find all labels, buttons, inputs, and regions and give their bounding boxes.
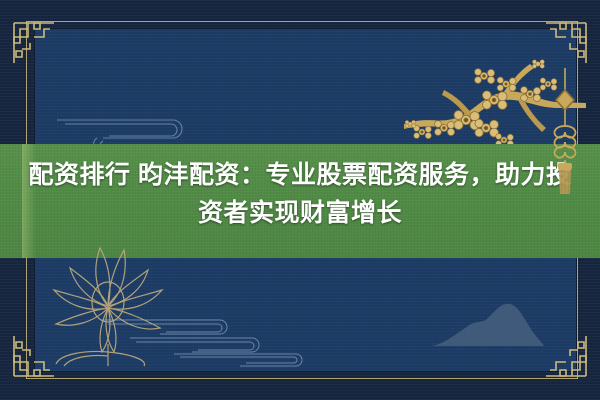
headline-container: 配资排行 昀沣配资：专业股票配资服务，助力投资者实现财富增长 [10,156,590,248]
banner-image: 配资排行 昀沣配资：专业股票配资服务，助力投资者实现财富增长 [0,0,600,400]
page-title: 配资排行 昀沣配资：专业股票配资服务，助力投资者实现财富增长 [19,156,581,232]
frame-line-top [26,21,578,22]
frame-line-bottom [26,378,578,379]
